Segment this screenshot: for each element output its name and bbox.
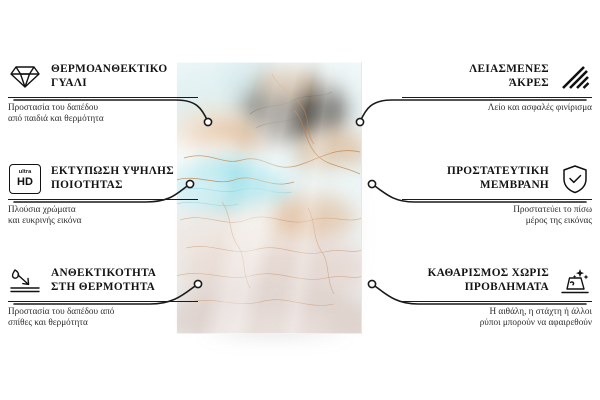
feature-header: ΘΕΡΜΟΑΝΘΕΚΤΙΚΟ ΓΥΑΛΙ [8,60,198,94]
diagonal-lines-icon [558,60,592,94]
ultra-hd-bottom-label: HD [17,177,33,188]
feature-header: ΠΡΟΣΤΑΤΕΥΤΙΚΗ ΜΕΜΒΡΑΝΗ [402,162,592,196]
feature-description: Προστασία του δαπέδου από παιδιά και θερ… [8,102,198,125]
feature-title: ΚΑΘΑΡΙΣΜΟΣ ΧΩΡΙΣ ΠΡΟΒΛΗΜΑΤΑ [428,267,549,294]
flame-deflect-icon [8,264,42,298]
feature-divider [8,199,198,200]
feature-divider [402,97,592,98]
ink-veins [176,62,362,334]
shield-check-icon [558,162,592,196]
feature-header: ΛΕΙΑΣΜΕΝΕΣ ΆΚΡΕΣ [402,60,592,94]
connector-dot-right-2 [368,180,375,187]
feature-divider [402,199,592,200]
feature-divider [8,301,198,302]
feature-description: Λείο και ασφαλές φινίρισμα [402,102,592,113]
feature-protective-membrane: ΠΡΟΣΤΑΤΕΥΤΙΚΗ ΜΕΜΒΡΑΝΗ Προστατεύει το πί… [402,162,592,227]
infographic-canvas: ΘΕΡΜΟΑΝΘΕΚΤΙΚΟ ΓΥΑΛΙ Προστασία του δαπέδ… [0,0,600,400]
feature-header: ultra HD ΕΚΤΥΠΩΣΗ ΥΨΗΛΗΣ ΠΟΙΟΤΗΤΑΣ [8,162,198,196]
feature-description: Πλούσια χρώματα και ευκρινής εικόνα [8,204,198,227]
feature-divider [8,97,198,98]
feature-description: Προστατεύει το πίσω μέρος της εικόνας [402,204,592,227]
product-panel [176,62,368,340]
feature-title: ΑΝΘΕΚΤΙΚΟΤΗΤΑ ΣΤΗ ΘΕΡΜΟΤΗΤΑ [51,267,156,294]
feature-easy-cleaning: ΚΑΘΑΡΙΣΜΟΣ ΧΩΡΙΣ ΠΡΟΒΛΗΜΑΤΑ Η αιθάλη, η … [402,264,592,329]
feature-description: Η αιθάλη, η στάχτη ή άλλοι ρύποι μπορούν… [402,306,592,329]
feature-title: ΛΕΙΑΣΜΕΝΕΣ ΆΚΡΕΣ [469,63,549,90]
sponge-sparkle-icon [558,264,592,298]
feature-high-quality-print: ultra HD ΕΚΤΥΠΩΣΗ ΥΨΗΛΗΣ ΠΟΙΟΤΗΤΑΣ Πλούσ… [8,162,198,227]
connector-dot-right-3 [368,280,375,287]
feature-header: ΚΑΘΑΡΙΣΜΟΣ ΧΩΡΙΣ ΠΡΟΒΛΗΜΑΤΑ [402,264,592,298]
panel-artwork [176,62,362,334]
feature-header: ΑΝΘΕΚΤΙΚΟΤΗΤΑ ΣΤΗ ΘΕΡΜΟΤΗΤΑ [8,264,198,298]
ultra-hd-badge-icon: ultra HD [8,162,42,196]
feature-divider [402,301,592,302]
feature-thermal-resistant-glass: ΘΕΡΜΟΑΝΘΕΚΤΙΚΟ ΓΥΑΛΙ Προστασία του δαπέδ… [8,60,198,125]
feature-heat-resistance: ΑΝΘΕΚΤΙΚΟΤΗΤΑ ΣΤΗ ΘΕΡΜΟΤΗΤΑ Προστασία το… [8,264,198,329]
diamond-icon [8,60,42,94]
feature-title: ΠΡΟΣΤΑΤΕΥΤΙΚΗ ΜΕΜΒΡΑΝΗ [447,165,549,192]
feature-polished-edges: ΛΕΙΑΣΜΕΝΕΣ ΆΚΡΕΣ Λείο και ασφαλές φινίρι… [402,60,592,113]
feature-title: ΘΕΡΜΟΑΝΘΕΚΤΙΚΟ ΓΥΑΛΙ [51,63,168,90]
feature-title: ΕΚΤΥΠΩΣΗ ΥΨΗΛΗΣ ΠΟΙΟΤΗΤΑΣ [51,165,174,192]
feature-description: Προστασία του δαπέδου από σπίθες και θερ… [8,306,198,329]
